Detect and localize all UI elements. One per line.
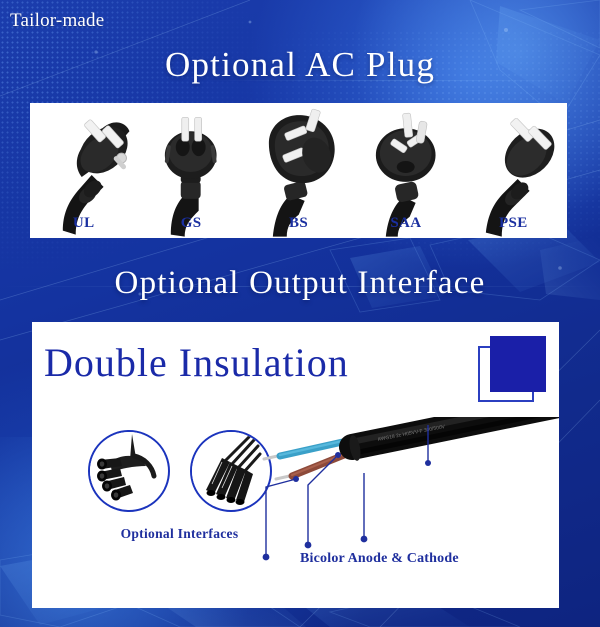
heading-optional-ac-plug: Optional AC Plug [0,45,600,85]
plug-label: UL [30,215,137,232]
plug-label: BS [245,215,352,232]
insulation-filled-square [490,336,546,392]
optional-interfaces-label: Optional Interfaces [72,526,287,542]
plug-label: GS [137,215,244,232]
ac-plug-panel: UL [30,103,567,238]
plug-label: PSE [460,215,567,232]
bundled-connectors-art [192,432,266,506]
product-infographic: Tailor-made Optional AC Plug [0,0,600,627]
plug-item-gs[interactable]: GS [137,103,244,238]
bicolor-anode-cathode-label: Bicolor Anode & Cathode [300,551,459,567]
plug-item-pse[interactable]: PSE [460,103,567,238]
plug-item-saa[interactable]: SAA [352,103,459,238]
bicolor-cable-diagram: AWG18 2c H05VV-F 300/500V [260,417,559,587]
double-insulation-square-symbol [478,336,552,408]
splitter-connector-art [90,432,164,506]
double-insulation-title: Double Insulation [44,339,349,386]
output-interface-panel: Double Insulation [32,322,559,608]
plug-item-bs[interactable]: BS [245,103,352,238]
tailor-made-note: Tailor-made [10,10,104,32]
plug-label: SAA [352,215,459,232]
plug-item-ul[interactable]: UL [30,103,137,238]
heading-optional-output-interface: Optional Output Interface [0,265,600,302]
four-way-splitter-connector-photo[interactable] [88,430,170,512]
